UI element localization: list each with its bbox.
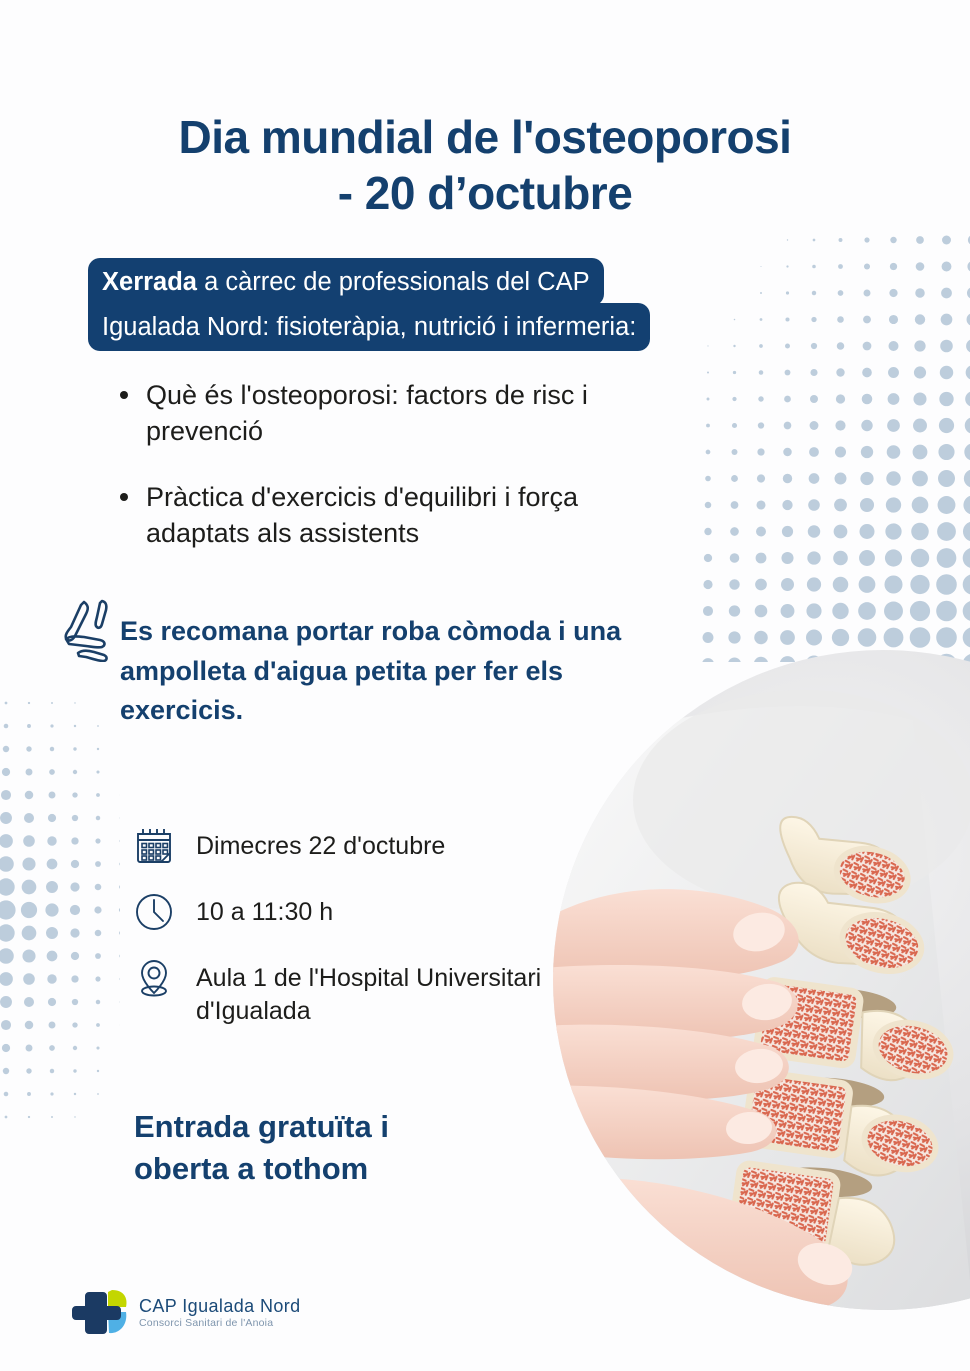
page-title: Dia mundial de l'osteoporosi - 20 d’octu… — [0, 109, 970, 221]
detail-row-time: 10 a 11:30 h — [132, 890, 552, 934]
detail-row-date: Dimecres 22 d'octubre — [132, 824, 552, 868]
detail-date-text: Dimecres 22 d'octubre — [196, 824, 445, 863]
poster-canvas: Dia mundial de l'osteoporosi - 20 d’octu… — [0, 0, 970, 1371]
logo-text: CAP Igualada Nord Consorci Sanitari de l… — [139, 1297, 301, 1329]
talk-banner: Xerrada a càrrec de professionals del CA… — [88, 258, 788, 351]
clock-icon — [132, 890, 176, 934]
halftone-dots-left — [0, 672, 120, 1142]
list-item: Pràctica d'exercicis d'equilibri i força… — [108, 480, 638, 552]
cap-cross-logo-icon — [72, 1288, 130, 1338]
logo-subtitle: Consorci Sanitari de l'Anoia — [139, 1318, 301, 1329]
logo-title: CAP Igualada Nord — [139, 1297, 301, 1315]
title-line-1: Dia mundial de l'osteoporosi — [179, 111, 792, 163]
cap-igualada-nord-logo: CAP Igualada Nord Consorci Sanitari de l… — [72, 1288, 301, 1338]
recommendation-text: Es recomana portar roba còmoda i una amp… — [120, 612, 640, 731]
banner-line-1-rest: a càrrec de professionals del CAP — [197, 268, 590, 296]
sparkle-burst-icon — [62, 596, 120, 662]
list-item: Què és l'osteoporosi: factors de risc i … — [108, 378, 638, 450]
title-line-2: - 20 d’octubre — [0, 165, 970, 221]
banner-keyword: Xerrada — [102, 268, 197, 296]
spine-model-photo — [553, 650, 970, 1310]
location-pin-icon — [132, 956, 176, 1000]
topics-list: Què és l'osteoporosi: factors de risc i … — [108, 378, 638, 582]
banner-line-2: Igualada Nord: fisioteràpia, nutrició i … — [88, 303, 650, 351]
event-details: Dimecres 22 d'octubre 10 a 11:30 h — [132, 824, 552, 1049]
detail-row-location: Aula 1 de l'Hospital Universitari d'Igua… — [132, 956, 552, 1027]
free-entry-line-2: oberta a tothom — [134, 1151, 368, 1186]
free-entry-note: Entrada gratuïta i oberta a tothom — [134, 1106, 534, 1190]
detail-location-text: Aula 1 de l'Hospital Universitari d'Igua… — [196, 956, 552, 1027]
free-entry-line-1: Entrada gratuïta i — [134, 1109, 389, 1144]
calendar-icon — [132, 824, 176, 868]
banner-line-1: Xerrada a càrrec de professionals del CA… — [88, 258, 604, 306]
detail-time-text: 10 a 11:30 h — [196, 890, 333, 929]
